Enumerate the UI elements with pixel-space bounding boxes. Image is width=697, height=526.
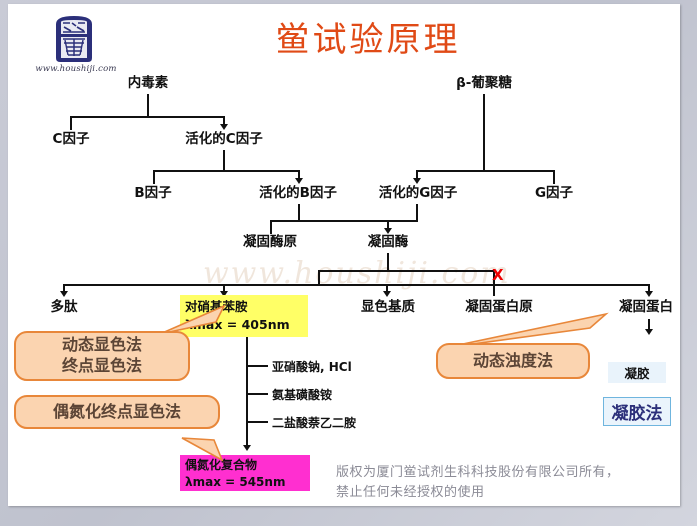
node-coagulin: 凝固蛋白 bbox=[605, 300, 687, 315]
connector-to-factor-g bbox=[553, 170, 555, 184]
logo-url-text: www.houshiji.com bbox=[28, 64, 124, 74]
page-title: 鲎试验原理 bbox=[218, 12, 518, 61]
node-factor-c: C因子 bbox=[40, 132, 102, 147]
connector-beta-glucan-stem bbox=[483, 94, 485, 170]
arrowhead-activated-g bbox=[413, 178, 421, 184]
connector-to-proclotting bbox=[270, 220, 272, 234]
connector-proclotting-split bbox=[270, 220, 388, 222]
node-proclotting-enzyme: 凝固酶原 bbox=[220, 235, 320, 250]
node-coagulogen: 凝固蛋白原 bbox=[451, 300, 547, 315]
node-factor-g: G因子 bbox=[523, 186, 585, 201]
connector-g-to-clotting bbox=[388, 220, 418, 222]
callout-chromogenic-line1: 动态显色法 bbox=[62, 335, 142, 356]
callout-azo-label: 偶氮化终点显色法 bbox=[53, 402, 181, 423]
watermark-text: www.houshiji.com bbox=[203, 256, 563, 291]
node-chromogenic-substrate: 显色基质 bbox=[348, 300, 428, 315]
node-beta-glucan: β-葡聚糖 bbox=[428, 76, 540, 91]
callout-turbidimetric-label: 动态浊度法 bbox=[473, 351, 553, 372]
connector-clotting-enzyme-stem bbox=[387, 253, 389, 270]
node-endotoxin: 内毒素 bbox=[108, 76, 188, 91]
pnp-name: 对硝基苯胺 bbox=[185, 298, 303, 316]
connector-reagent-tick-1 bbox=[246, 365, 268, 367]
callout-turbidimetric-method: 动态浊度法 bbox=[436, 343, 590, 379]
connector-drop-coagulogen bbox=[493, 284, 495, 296]
node-activated-factor-b: 活化的B因子 bbox=[234, 186, 362, 201]
reagent-item-3: 二盐酸萘乙二胺 bbox=[272, 414, 356, 431]
copyright-line-1: 版权为厦门鲎试剂生科科技股份有限公司所有， bbox=[336, 463, 666, 483]
node-peptide: 多肽 bbox=[33, 300, 95, 315]
connector-bus-left-drop bbox=[318, 270, 320, 284]
brand-logo: www.houshiji.com bbox=[28, 14, 124, 84]
connector-endotoxin-stem bbox=[147, 94, 149, 116]
connector-beta-glucan-split bbox=[416, 170, 554, 172]
node-activated-factor-g: 活化的G因子 bbox=[354, 186, 482, 201]
arrowhead-gel bbox=[645, 329, 653, 335]
connector-reagent-spine bbox=[246, 337, 248, 447]
slide-canvas: www.houshiji.com 鲎试验原理 www.houshiji.com … bbox=[8, 4, 680, 506]
callout-chromogenic-line2: 终点显色法 bbox=[62, 356, 142, 377]
pnp-highlight-box: 对硝基苯胺 λmax = 405nm bbox=[180, 295, 308, 337]
reagent-item-1: 亚硝酸钠, HCl bbox=[272, 358, 352, 375]
callout-azo-endpoint-method: 偶氮化终点显色法 bbox=[14, 395, 220, 429]
node-activated-factor-c: 活化的C因子 bbox=[160, 132, 288, 147]
arrowhead-activated-c bbox=[220, 124, 228, 130]
reagent-item-2: 氨基磺酸铵 bbox=[272, 386, 332, 403]
arrowhead-azo bbox=[243, 445, 251, 451]
connector-activated-c-stem bbox=[223, 150, 225, 170]
pnp-lambda: λmax = 405nm bbox=[185, 316, 303, 334]
connector-endotoxin-split bbox=[70, 116, 224, 118]
blocked-marker-icon: X bbox=[492, 268, 504, 283]
connector-activated-g-stem bbox=[416, 204, 418, 220]
connector-to-factor-c bbox=[70, 116, 72, 130]
arrowhead-activated-b bbox=[295, 178, 303, 184]
azo-lambda: λmax = 545nm bbox=[185, 474, 305, 491]
node-clotting-enzyme: 凝固酶 bbox=[351, 235, 425, 250]
connector-to-factor-b bbox=[153, 170, 155, 184]
arrowhead-peptide bbox=[60, 291, 68, 297]
connector-main-bus bbox=[63, 284, 648, 286]
copyright-notice: 版权为厦门鲎试剂生科科技股份有限公司所有， 禁止任何未经授权的使用 bbox=[336, 463, 666, 502]
arrowhead-coagulin bbox=[645, 291, 653, 297]
gel-method-box: 凝胶法 bbox=[603, 397, 671, 426]
connector-activated-b-stem bbox=[298, 204, 300, 220]
copyright-line-2: 禁止任何未经授权的使用 bbox=[336, 483, 666, 503]
azo-highlight-box: 偶氮化复合物 λmax = 545nm bbox=[180, 455, 310, 491]
connector-reagent-tick-2 bbox=[246, 393, 268, 395]
connector-clotting-enzyme-bus bbox=[318, 270, 494, 272]
node-factor-b: B因子 bbox=[122, 186, 184, 201]
azo-name: 偶氮化复合物 bbox=[185, 457, 305, 474]
callout-chromogenic-methods: 动态显色法 终点显色法 bbox=[14, 331, 190, 381]
seal-icon bbox=[50, 14, 98, 64]
node-gel: 凝胶 bbox=[608, 362, 666, 383]
connector-activated-c-split bbox=[153, 170, 299, 172]
arrowhead-chromogenic bbox=[383, 291, 391, 297]
connector-reagent-tick-3 bbox=[246, 421, 268, 423]
